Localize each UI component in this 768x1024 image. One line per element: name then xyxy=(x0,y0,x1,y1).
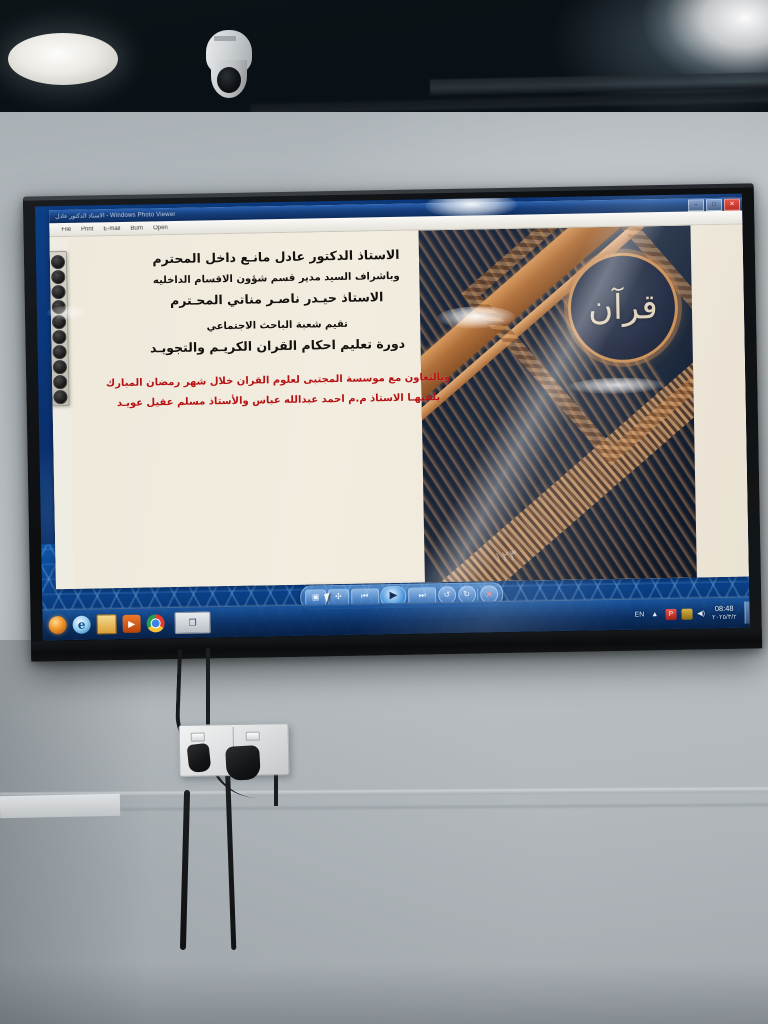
media-player-icon[interactable]: ▶ xyxy=(122,615,140,633)
window-controls: – □ ✕ xyxy=(688,199,740,212)
clock-date: ٢٠٢٥/٣/٢ xyxy=(712,613,737,621)
language-indicator[interactable]: EN xyxy=(634,611,644,618)
tool-button-6[interactable] xyxy=(52,330,66,344)
minimize-button[interactable]: – xyxy=(688,199,704,211)
menu-item-file[interactable]: File xyxy=(61,226,71,232)
slide-line-1: الاستاذ الدكتور عادل مانـع داخل المحترم xyxy=(86,246,466,268)
maximize-button[interactable]: □ xyxy=(706,199,722,211)
slide-text-block: الاستاذ الدكتور عادل مانـع داخل المحترم … xyxy=(86,244,469,419)
toolbar-separator xyxy=(477,588,478,600)
ceiling-edge-shadow xyxy=(250,92,768,115)
tool-button-8[interactable] xyxy=(52,360,66,374)
slide-line-3: الاستاذ حيـدر ناصـر مناتي المحـترم xyxy=(87,288,467,310)
menu-item-burn[interactable]: Burn xyxy=(130,225,143,231)
wall-mounted-tv: الاستاذ الدكتور عادل - Windows Photo Vie… xyxy=(23,183,762,661)
socket-switch-2[interactable] xyxy=(246,732,260,741)
clock-time: 08:48 xyxy=(715,605,734,614)
start-orb-icon[interactable] xyxy=(48,616,66,634)
photo-viewer-window: الاستاذ الدكتور عادل - Windows Photo Vie… xyxy=(49,198,749,589)
volume-icon[interactable]: ◀) xyxy=(697,609,705,617)
tool-button-4[interactable] xyxy=(51,300,65,314)
left-tool-strip[interactable] xyxy=(50,251,70,406)
active-task-button[interactable]: ❐ xyxy=(174,611,210,634)
tool-button-3[interactable] xyxy=(51,285,65,299)
slide-line-5: دورة تعليم احكام القران الكريـم والتجويـ… xyxy=(87,335,467,357)
window-body: قرآن ١٢٣ الاستاذ الدكتور عادل مانـع داخل… xyxy=(50,225,749,590)
tool-button-10[interactable] xyxy=(53,390,67,404)
pdf-tray-icon[interactable]: P xyxy=(665,608,676,619)
show-desktop-button[interactable] xyxy=(744,601,749,623)
window-title: الاستاذ الدكتور عادل - Windows Photo Vie… xyxy=(49,211,176,220)
baseboard xyxy=(0,794,120,819)
room-scene: الاستاذ الدكتور عادل - Windows Photo Vie… xyxy=(0,0,768,1024)
slide-line-7: يلقيهـا الاستاذ م.م احمد عبدالله عباس وا… xyxy=(89,392,469,410)
slide-line-6: وبالتعاون مع موسسة المجتبى لعلوم القران … xyxy=(88,372,468,390)
socket-switch-1[interactable] xyxy=(191,733,205,742)
close-button[interactable]: ✕ xyxy=(724,199,740,211)
menu-item-email[interactable]: E-mail xyxy=(103,225,120,231)
taskbar-icon-group: e ▶ ❐ xyxy=(48,611,210,636)
show-hidden-icons-icon[interactable]: ▲ xyxy=(649,609,660,620)
dome-camera-icon xyxy=(200,30,258,98)
menu-item-open[interactable]: Open xyxy=(153,225,168,231)
tool-button-7[interactable] xyxy=(52,345,66,359)
tool-button-2[interactable] xyxy=(51,270,65,284)
taskbar-clock[interactable]: 08:48 ٢٠٢٥/٣/٢ xyxy=(710,605,737,622)
slide-canvas: قرآن ١٢٣ الاستاذ الدكتور عادل مانـع داخل… xyxy=(68,225,749,589)
chrome-icon[interactable] xyxy=(146,614,164,632)
slide-line-4: تقيم شعبة الباحث الاجتماعي xyxy=(87,317,467,335)
network-tray-icon[interactable] xyxy=(681,608,692,619)
tool-button-9[interactable] xyxy=(53,375,67,389)
file-explorer-icon[interactable] xyxy=(96,614,116,634)
ceiling xyxy=(0,0,768,118)
ceiling-light xyxy=(8,33,118,85)
slide-line-2: وباشراف السيد مدير قسم شؤون الاقسام الدا… xyxy=(86,270,466,288)
floor-shadow xyxy=(0,964,768,1024)
tv-screen: الاستاذ الدكتور عادل - Windows Photo Vie… xyxy=(35,194,750,641)
menu-item-print[interactable]: Print xyxy=(81,226,93,232)
power-plug-2 xyxy=(225,745,261,781)
power-plug-1 xyxy=(187,743,212,773)
tool-button-1[interactable] xyxy=(50,255,64,269)
system-tray: EN ▲ P ◀) 08:48 ٢٠٢٥/٣/٢ xyxy=(634,601,749,625)
tool-button-5[interactable] xyxy=(51,315,65,329)
internet-explorer-icon[interactable]: e xyxy=(72,616,90,634)
